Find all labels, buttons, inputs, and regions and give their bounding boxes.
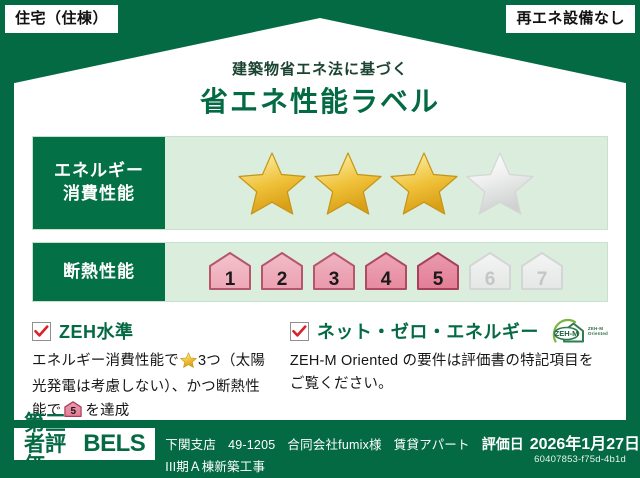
note-zeh-standard: ZEH水準 エネルギー消費性能で3つ（太陽光発電は考慮しない）、かつ断熱性能で5…: [32, 318, 272, 423]
house-level-number: 1: [207, 270, 253, 289]
star-icon-filled-1: [237, 150, 307, 216]
house-icon-level-7: 7: [519, 251, 565, 293]
house-icon-level-1: 1: [207, 251, 253, 293]
star-icon-filled-3: [389, 150, 459, 216]
footer-number: 49-1205: [228, 438, 275, 452]
energy-performance-label: 住宅（住棟） 再エネ設備なし 建築物省エネ法に基づく 省エネ性能ラベル エネルギ…: [0, 0, 640, 478]
zeh-standard-checkbox[interactable]: [32, 322, 51, 341]
footer-info-row-1: 下関支店 49-1205 合同会社fumix様 賃貸アパート 評価日 2026年…: [165, 430, 640, 454]
note-zeh-standard-header: ZEH水準: [32, 318, 272, 344]
zeh-standard-title: ZEH水準: [59, 318, 134, 344]
net-zero-energy-title: ネット・ゼロ・エネルギー: [317, 318, 539, 344]
house-rating: 1 2: [165, 243, 607, 301]
insulation-performance-label: 断熱性能: [33, 243, 165, 301]
page-title: 省エネ性能ラベル: [0, 80, 640, 120]
star-icon-empty-4: [465, 150, 535, 216]
insulation-performance-row: 断熱性能 1: [32, 242, 608, 302]
footer-branch: 下関支店: [165, 434, 216, 453]
bels-logo-jp: 第三者評価: [24, 413, 75, 476]
footer-eval-date: 2026年1月27日: [530, 430, 640, 454]
house-level-number: 3: [311, 270, 357, 289]
energy-label-line-1: エネルギー: [54, 160, 144, 183]
footer: 第三者評価 BELS 下関支店 49-1205 合同会社fumix様 賃貸アパー…: [0, 424, 640, 478]
tag-renewable-energy: 再エネ設備なし: [506, 5, 635, 33]
house-level-number: 6: [467, 270, 513, 289]
note-net-zero-energy: ネット・ゼロ・エネルギー ZEH-M ZEH-M Oriented ZEH-M …: [290, 318, 608, 423]
house-icon-level-4: 4: [363, 251, 409, 293]
zeh-m-logo-icon: ZEH-M ZEH-M Oriented: [551, 318, 608, 344]
house-icon-level-2: 2: [259, 251, 305, 293]
energy-label-line-2: 消費性能: [63, 183, 135, 206]
check-icon: [34, 325, 49, 338]
star-icon-inline: [180, 352, 197, 376]
star-icon-filled-2: [313, 150, 383, 216]
footer-building-type: 賃貸アパート: [394, 434, 470, 453]
note-net-zero-energy-header: ネット・ゼロ・エネルギー ZEH-M ZEH-M Oriented: [290, 318, 608, 344]
footer-info: 下関支店 49-1205 合同会社fumix様 賃貸アパート 評価日 2026年…: [165, 430, 640, 474]
house-level-number: 7: [519, 270, 565, 289]
energy-consumption-label: エネルギー 消費性能: [33, 137, 165, 229]
house-icon-level-3: 3: [311, 251, 357, 293]
zeh-m-sub-line-2: Oriented: [588, 331, 608, 336]
bels-logo-en: BELS: [83, 432, 145, 456]
tag-building-type: 住宅（住棟）: [5, 5, 118, 33]
house-level-number: 2: [259, 270, 305, 289]
notes-section: ZEH水準 エネルギー消費性能で3つ（太陽光発電は考慮しない）、かつ断熱性能で5…: [32, 318, 608, 423]
net-zero-energy-body: ZEH-M Oriented の要件は評価書の特記項目をご覧ください。: [290, 350, 608, 397]
footer-client: 合同会社fumix様: [287, 434, 381, 453]
house-level-number: 4: [363, 270, 409, 289]
check-icon: [292, 325, 307, 338]
footer-eval-label: 評価日: [482, 434, 524, 454]
zeh-body-part-1: エネルギー消費性能で: [32, 353, 179, 369]
zeh-body-part-3: を達成: [85, 403, 129, 419]
house-icon-level-5: 5: [415, 251, 461, 293]
label-subtitle: 建築物省エネ法に基づく: [0, 58, 640, 79]
zeh-m-logo-subtext: ZEH-M Oriented: [588, 326, 608, 336]
net-zero-energy-checkbox[interactable]: [290, 322, 309, 341]
svg-text:ZEH-M: ZEH-M: [555, 329, 579, 338]
star-rating: [165, 137, 607, 229]
energy-consumption-row: エネルギー 消費性能: [32, 136, 608, 230]
footer-id: 60407853-f75d-4b1d: [534, 454, 626, 465]
insulation-label-text: 断熱性能: [63, 261, 135, 284]
bels-logo: 第三者評価 BELS: [14, 428, 155, 460]
house-icon-level-6: 6: [467, 251, 513, 293]
house-level-number: 5: [415, 270, 461, 289]
